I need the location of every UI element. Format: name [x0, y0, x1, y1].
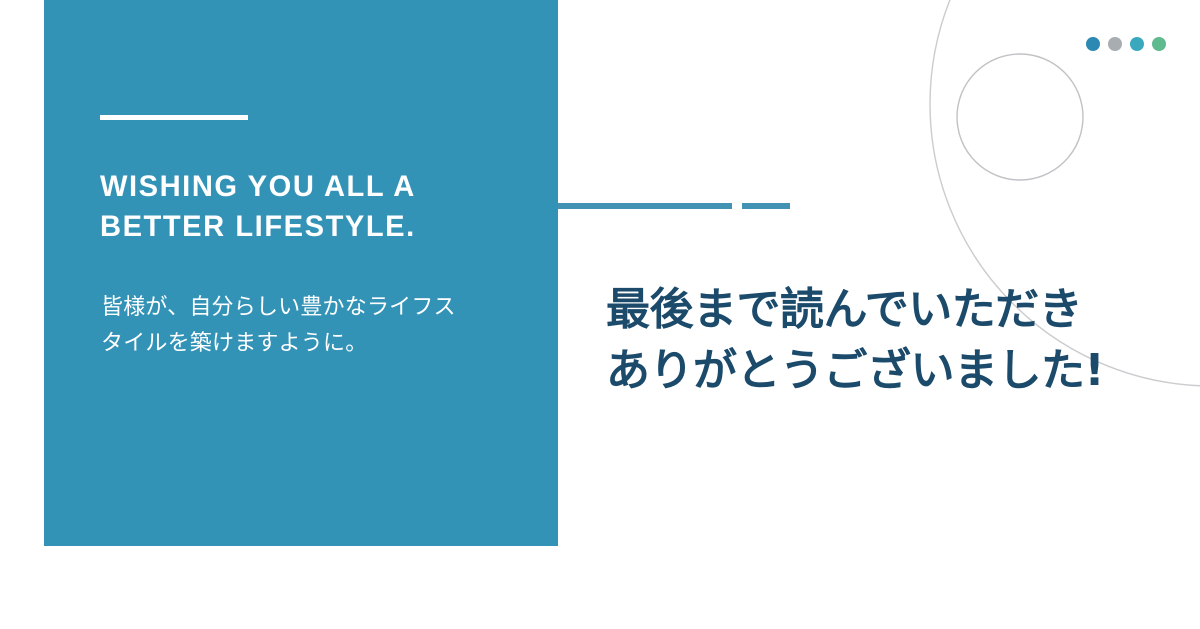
main-heading: 最後まで読んでいただき ありがとうございました! [606, 280, 1166, 401]
dot-cyan-icon [1130, 37, 1144, 51]
divider-long-segment [558, 203, 732, 209]
dot-blue-icon [1086, 37, 1100, 51]
decorative-dots-row [1086, 37, 1166, 51]
panel-body-text: 皆様が、自分らしい豊かなライフスタイルを築けますように。 [101, 290, 461, 361]
panel-accent-rule [100, 115, 248, 120]
slide-canvas: Wishing you all a better lifestyle. 皆様が、… [0, 0, 1200, 629]
dot-green-icon [1152, 37, 1166, 51]
blue-content-panel: Wishing you all a better lifestyle. 皆様が、… [44, 0, 558, 546]
small-circle-outline [957, 54, 1083, 180]
divider-short-segment [742, 203, 790, 209]
panel-headline: Wishing you all a better lifestyle. [100, 167, 517, 247]
dot-gray-icon [1108, 37, 1122, 51]
